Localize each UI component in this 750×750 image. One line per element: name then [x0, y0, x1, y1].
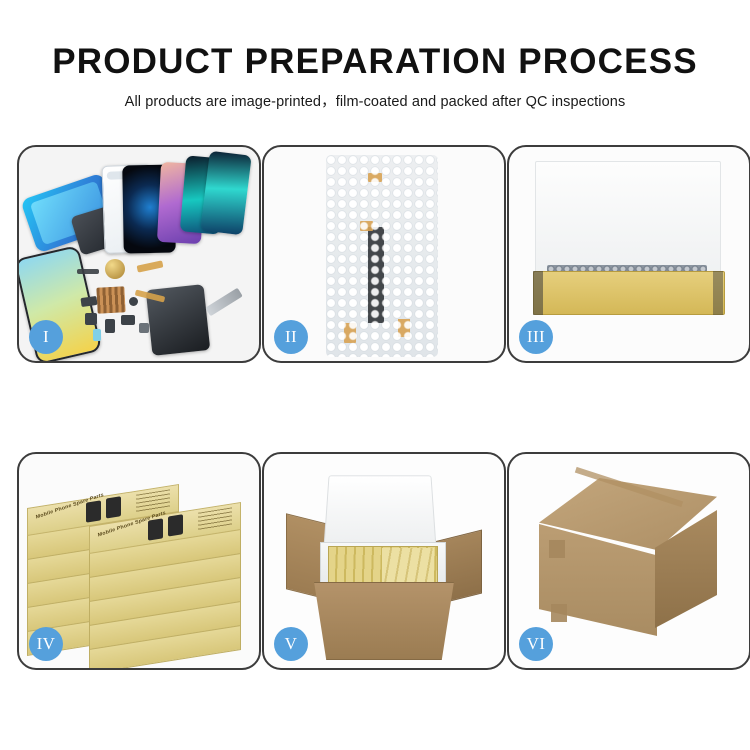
- chip-board: [96, 286, 125, 313]
- box-side-right: [713, 271, 723, 315]
- step-badge-6: VI: [519, 627, 553, 661]
- header: PRODUCT PREPARATION PROCESS All products…: [0, 0, 750, 111]
- box-label-phone-a2: [148, 518, 163, 540]
- flex-cable-a: [137, 260, 164, 272]
- carton-tape-upper: [549, 540, 565, 558]
- small-part-1: [80, 296, 97, 307]
- phone-screen-teal-2: [200, 151, 251, 236]
- small-part-7: [139, 323, 149, 333]
- small-part-2: [85, 313, 97, 325]
- bubble-wrap-overlay: [326, 155, 438, 357]
- carton-tape-lower: [551, 604, 567, 622]
- step-panel-3: III: [507, 145, 750, 363]
- step-badge-2: II: [274, 320, 308, 354]
- box-label-phone-b2: [168, 514, 183, 536]
- step-badge-4: IV: [29, 627, 63, 661]
- small-part-3: [105, 319, 115, 333]
- step-panel-6: VI: [507, 452, 750, 670]
- carton-body: [308, 582, 460, 660]
- flex-cable-c: [77, 269, 99, 274]
- box-label-phone-a1: [86, 500, 101, 522]
- box-side-left: [533, 271, 543, 315]
- step-badge-1: I: [29, 320, 63, 354]
- speaker-module: [105, 259, 125, 279]
- product-preparation-infographic: PRODUCT PREPARATION PROCESS All products…: [0, 0, 750, 750]
- packed-boxes-row-b: [382, 548, 434, 586]
- tweezers-tool: [205, 288, 243, 317]
- box-label-lines-2: [198, 507, 232, 530]
- page-subtitle: All products are image-printed，film-coat…: [0, 81, 750, 111]
- box-label-phone-b1: [106, 496, 121, 518]
- process-steps-grid: I II: [17, 145, 733, 675]
- step-panel-1: I: [17, 145, 261, 363]
- step-badge-5: V: [274, 627, 308, 661]
- kraft-box-tray: [533, 271, 725, 315]
- page-title: PRODUCT PREPARATION PROCESS: [0, 0, 750, 81]
- step-panel-5: V: [262, 452, 506, 670]
- small-part-4: [121, 315, 135, 325]
- foam-box-lid: [323, 475, 437, 552]
- step-badge-3: III: [519, 320, 553, 354]
- step-panel-2: II: [262, 145, 506, 363]
- small-part-6: [93, 329, 101, 341]
- small-part-5: [129, 297, 138, 306]
- step-panel-4: Mobile Phone Spare Parts Mobile Phone Sp…: [17, 452, 261, 670]
